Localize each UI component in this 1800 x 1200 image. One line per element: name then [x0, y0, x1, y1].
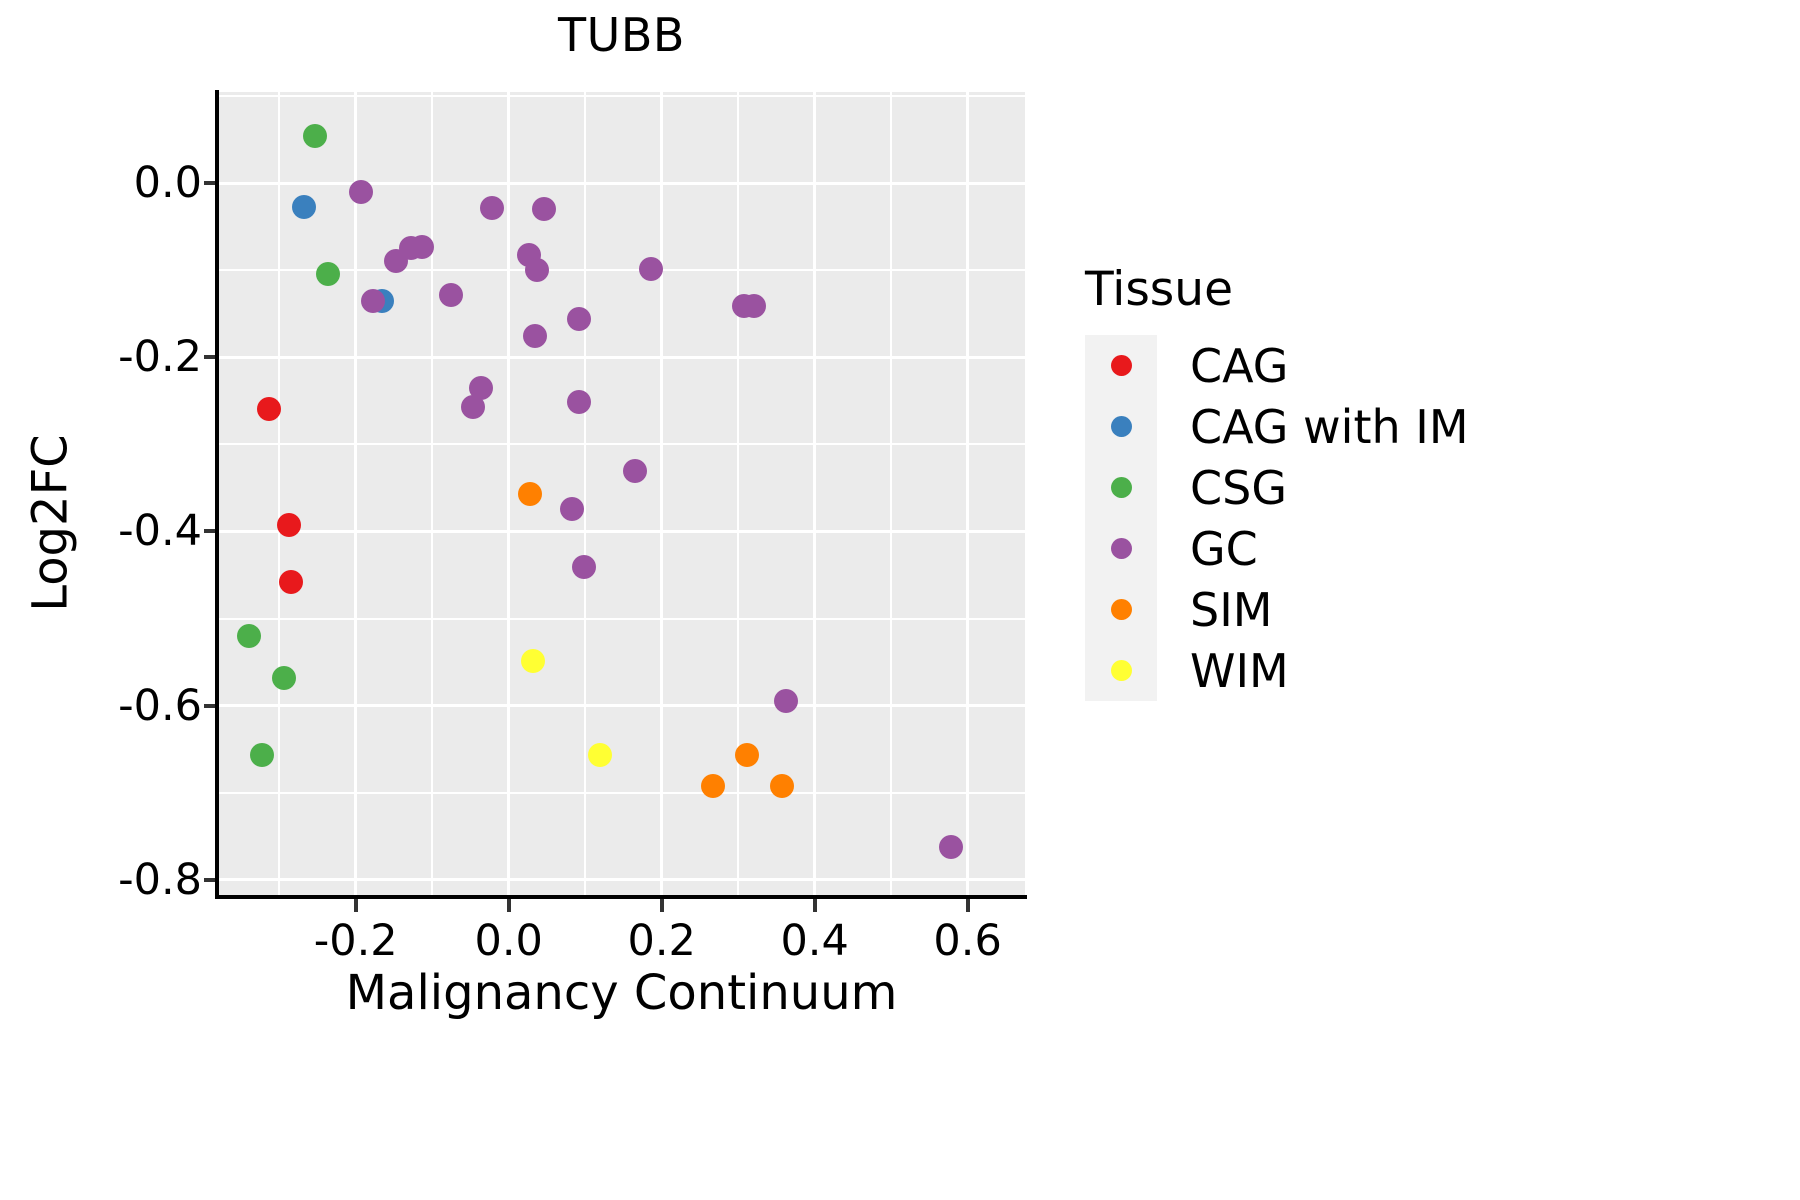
grid-minor-vertical [584, 92, 586, 897]
grid-minor-horizontal [218, 792, 1025, 794]
x-axis-tick [813, 899, 817, 912]
grid-minor-horizontal [218, 443, 1025, 445]
legend-item-label: WIM [1190, 648, 1289, 694]
scatter-point [257, 397, 281, 421]
grid-major-horizontal [218, 182, 1025, 185]
y-axis-tick-label: -0.2 [118, 332, 202, 382]
legend-key-swatch [1085, 396, 1157, 457]
scatter-point [560, 497, 584, 521]
legend-dot-icon [1111, 660, 1132, 681]
y-axis-title: Log2FC [23, 121, 79, 926]
grid-minor-horizontal [218, 618, 1025, 620]
scatter-point [735, 743, 759, 767]
legend-dot-icon [1111, 599, 1132, 620]
scatter-point [237, 624, 261, 648]
scatter-point [439, 283, 463, 307]
scatter-point [480, 196, 504, 220]
grid-major-horizontal [218, 356, 1025, 359]
scatter-point [523, 324, 547, 348]
grid-major-horizontal [218, 704, 1025, 707]
grid-major-vertical [507, 92, 510, 897]
scatter-point [521, 649, 545, 673]
y-axis-tick-label: -0.8 [118, 855, 202, 905]
legend-item-csg[interactable]: CSG [1085, 457, 1645, 518]
x-axis-tick [966, 899, 970, 912]
scatter-point [572, 555, 596, 579]
scatter-point [774, 689, 798, 713]
x-axis-title: Malignancy Continuum [218, 965, 1025, 1021]
scatter-point [384, 249, 408, 273]
x-axis-tick-label: 0.6 [933, 916, 1001, 966]
scatter-point [742, 294, 766, 318]
scatter-point [410, 235, 434, 259]
y-axis-tick [204, 181, 215, 185]
scatter-point [461, 395, 485, 419]
page-title: TUBB [218, 8, 1025, 62]
legend-key-swatch [1085, 518, 1157, 579]
scatter-point [518, 482, 542, 506]
y-axis-tick [204, 704, 215, 708]
legend-dot-icon [1111, 477, 1132, 498]
legend-item-cag[interactable]: CAG [1085, 335, 1645, 396]
legend-dot-icon [1111, 538, 1132, 559]
scatter-point [272, 666, 296, 690]
scatter-point [567, 390, 591, 414]
legend-key-swatch [1085, 457, 1157, 518]
x-axis-tick [507, 899, 511, 912]
legend-item-label: CAG with IM [1190, 404, 1469, 450]
chart-root: TUBB 0.0-0.2-0.4-0.6-0.8 -0.20.00.20.40.… [0, 0, 1800, 1200]
scatter-point [532, 197, 556, 221]
plot-panel [218, 92, 1025, 897]
scatter-point [316, 262, 340, 286]
y-axis-tick-label: 0.0 [134, 158, 202, 208]
x-axis-tick [354, 899, 358, 912]
scatter-point [588, 743, 612, 767]
y-axis-tick-label: -0.4 [118, 506, 202, 556]
scatter-point [770, 774, 794, 798]
legend-title: Tissue [1085, 262, 1645, 317]
scatter-point [361, 289, 385, 313]
grid-major-vertical [813, 92, 816, 897]
legend-item-sim[interactable]: SIM [1085, 579, 1645, 640]
scatter-point [303, 124, 327, 148]
scatter-point [292, 195, 316, 219]
grid-minor-vertical [278, 92, 280, 897]
legend-item-label: CAG [1190, 343, 1288, 389]
x-axis-tick [660, 899, 664, 912]
legend-item-gc[interactable]: GC [1085, 518, 1645, 579]
scatter-point [250, 743, 274, 767]
legend-item-label: SIM [1190, 587, 1272, 633]
legend-item-cag-with-im[interactable]: CAG with IM [1085, 396, 1645, 457]
x-axis-tick-label: 0.4 [780, 916, 848, 966]
grid-minor-vertical [431, 92, 433, 897]
grid-major-vertical [966, 92, 969, 897]
x-axis-tick-label: 0.2 [627, 916, 695, 966]
scatter-point [639, 257, 663, 281]
grid-minor-vertical [737, 92, 739, 897]
grid-minor-vertical [890, 92, 892, 897]
legend-item-label: CSG [1190, 465, 1287, 511]
grid-major-vertical [354, 92, 357, 897]
scatter-point [623, 459, 647, 483]
y-axis-tick-label: -0.6 [118, 681, 202, 731]
x-axis-line [215, 895, 1027, 899]
grid-major-horizontal [218, 530, 1025, 533]
scatter-point [279, 570, 303, 594]
scatter-point [567, 307, 591, 331]
legend-key-swatch [1085, 640, 1157, 701]
y-axis-tick [204, 529, 215, 533]
scatter-point [277, 513, 301, 537]
legend-item-wim[interactable]: WIM [1085, 640, 1645, 701]
legend-key-swatch [1085, 579, 1157, 640]
legend-dot-icon [1111, 355, 1132, 376]
legend: Tissue CAGCAG with IMCSGGCSIMWIM [1085, 262, 1645, 701]
x-axis-tick-label: -0.2 [314, 916, 398, 966]
legend-dot-icon [1111, 416, 1132, 437]
scatter-point [349, 180, 373, 204]
x-axis-tick-label: 0.0 [474, 916, 542, 966]
grid-minor-horizontal [218, 95, 1025, 97]
grid-major-vertical [660, 92, 663, 897]
scatter-point [525, 258, 549, 282]
legend-key-swatch [1085, 335, 1157, 396]
legend-item-label: GC [1190, 526, 1258, 572]
y-axis-tick [204, 878, 215, 882]
legend-items: CAGCAG with IMCSGGCSIMWIM [1085, 335, 1645, 701]
scatter-point [939, 835, 963, 859]
y-axis-line [215, 90, 219, 899]
scatter-point [701, 774, 725, 798]
grid-major-horizontal [218, 878, 1025, 881]
y-axis-tick [204, 355, 215, 359]
